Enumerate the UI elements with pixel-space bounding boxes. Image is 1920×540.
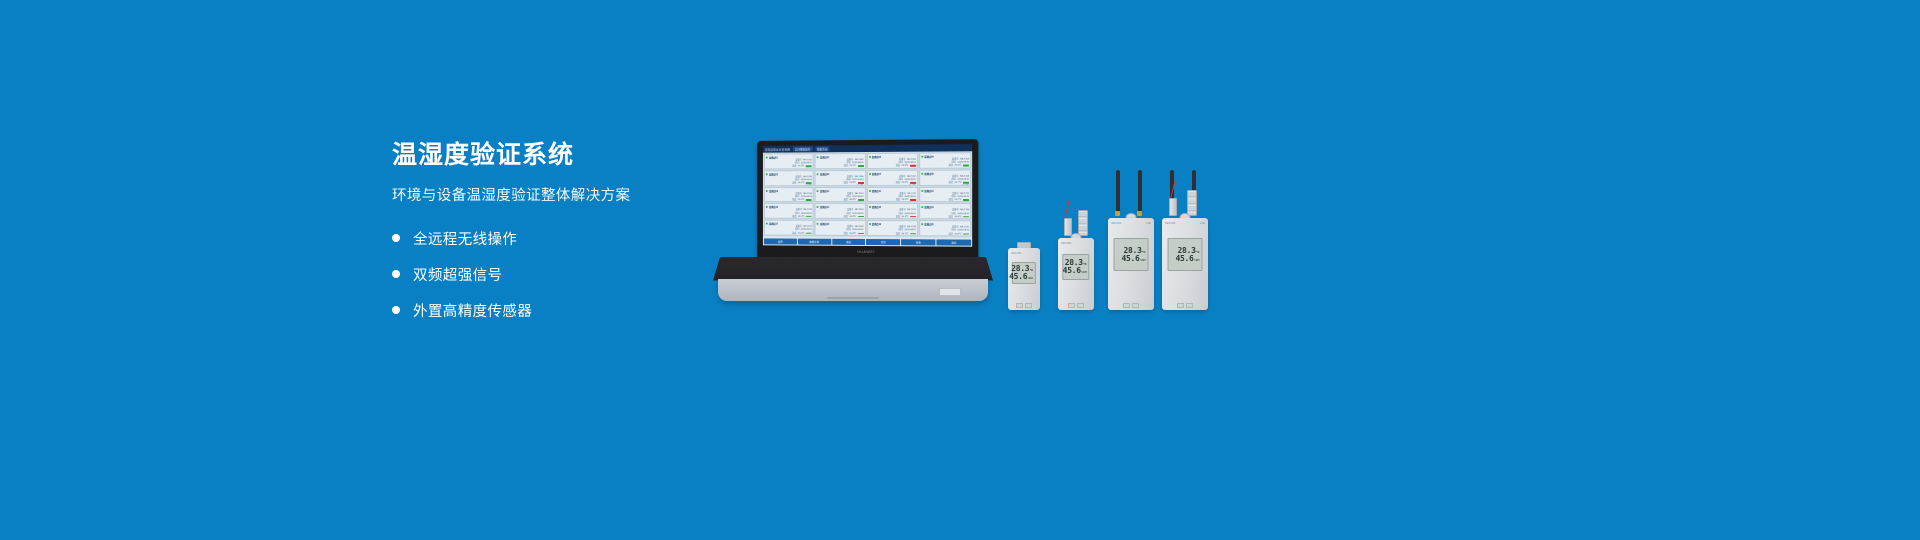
card-title: 监测点19	[872, 222, 881, 226]
hero-copy: 温湿度验证系统 环境与设备温湿度验证整体解决方案 全远程无线操作双频超强信号外置…	[392, 140, 722, 336]
card-title: 监测点15	[872, 205, 881, 209]
bullet-dot-icon	[392, 234, 400, 242]
card-title: 监测点18	[820, 222, 829, 226]
status-led-icon	[817, 173, 819, 175]
card-title: 监测点05	[769, 172, 778, 176]
antenna-base-right-icon	[1137, 211, 1142, 216]
sensor-filter-icon	[1187, 190, 1197, 216]
card-title: 监测点17	[769, 222, 778, 226]
card-title: 监测点01	[769, 156, 778, 160]
monitor-card[interactable]: 监测点19设备号NK-T119时间11/20 09:15温度26.1℃T126.…	[866, 220, 917, 236]
app-toolbar-button-0[interactable]: 设置	[764, 238, 797, 244]
device-button-row[interactable]	[1123, 303, 1139, 308]
card-title: 监测点02	[820, 155, 829, 159]
device-lcd-display: 28.3℃45.6%RH	[1062, 254, 1089, 280]
status-led-icon	[817, 223, 819, 225]
bullet-dot-icon	[392, 306, 400, 314]
status-bar-indicator	[858, 165, 864, 167]
card-title: 监测点08	[924, 172, 933, 176]
laptop-screen: 温湿度验证分析系统 实时数据监控 数据查询 监测点01设备号NK-T101时间1…	[763, 144, 972, 247]
device-body: INKONHS28.3℃45.6%RH	[1162, 218, 1208, 310]
monitor-card[interactable]: 监测点12设备号NK-T112时间11/20 09:15温度25.7℃T125.…	[919, 186, 971, 202]
status-bar-indicator	[910, 233, 916, 235]
status-bar-indicator	[963, 216, 969, 218]
app-toolbar-button-3[interactable]: 打印	[866, 239, 900, 245]
laptop-mockup: 温湿度验证分析系统 实时数据监控 数据查询 监测点01设备号NK-T101时间1…	[718, 140, 988, 300]
monitor-card[interactable]: 监测点01设备号NK-T101时间11/20 09:15温度25.3℃T125.…	[764, 153, 814, 169]
lcd-humidity-row: 45.6%RH	[1015, 273, 1033, 281]
status-bar-indicator	[910, 216, 916, 218]
status-bar-indicator	[963, 233, 969, 235]
status-led-icon	[766, 223, 768, 225]
status-bar-indicator	[963, 165, 969, 167]
status-bar-indicator	[910, 182, 916, 184]
device-button-left[interactable]	[1123, 303, 1130, 308]
status-bar-indicator	[858, 233, 864, 235]
device-brand-row: INKONHS	[1165, 221, 1205, 225]
device-body: INKONHS28.3℃45.6%RH	[1108, 218, 1154, 310]
lcd-humidity-unit: %RH	[1028, 277, 1033, 280]
lcd-humidity-value: 45.6	[1175, 255, 1193, 263]
monitor-card[interactable]: 监测点11设备号NK-T111时间11/20 09:15温度24.3℃T124.…	[866, 187, 917, 203]
feature-label: 外置高精度传感器	[413, 300, 532, 321]
feature-item-0: 全远程无线操作	[392, 228, 722, 249]
antenna-right-icon	[1138, 170, 1142, 212]
card-title: 监测点20	[924, 222, 933, 226]
device-model: HS	[1146, 221, 1151, 225]
sensor-device-3[interactable]: INKONHS28.3℃45.6%RH	[1162, 218, 1208, 310]
feature-label: 全远程无线操作	[413, 228, 517, 249]
laptop-keyboard[interactable]	[713, 257, 993, 280]
sensor-device-1[interactable]: INKON28.3℃45.6%RH	[1058, 238, 1094, 310]
card-title: 监测点03	[872, 155, 881, 159]
page-title: 温湿度验证系统	[392, 140, 722, 170]
device-brand-row: INKON	[1061, 241, 1091, 245]
device-brand: INKON	[1011, 251, 1022, 255]
lcd-humidity-row: 45.6%RH	[1117, 255, 1146, 263]
sensor-device-2[interactable]: INKONHS28.3℃45.6%RH	[1108, 218, 1154, 310]
device-brand-row: INKON	[1011, 251, 1037, 255]
app-toolbar-button-2[interactable]: 报表	[832, 238, 866, 244]
status-led-icon	[766, 157, 768, 159]
status-bar-indicator	[963, 182, 969, 184]
device-button-right[interactable]	[1077, 303, 1084, 308]
device-button-row[interactable]	[1016, 303, 1032, 308]
status-bar-indicator	[963, 199, 969, 201]
device-brand-row: INKONHS	[1111, 221, 1151, 225]
status-led-icon	[921, 223, 923, 225]
monitor-card[interactable]: 监测点05设备号NK-T105时间11/20 09:15温度26.2℃T126.…	[764, 170, 814, 186]
feature-item-2: 外置高精度传感器	[392, 300, 722, 321]
monitor-card[interactable]: 监测点13设备号NK-T113时间11/20 09:15温度26.0℃T126.…	[764, 203, 814, 219]
device-button-left[interactable]	[1068, 303, 1075, 308]
device-button-right[interactable]	[1186, 303, 1193, 308]
sensor-device-0[interactable]: INKON28.3℃45.6%RH	[1008, 248, 1040, 310]
status-bar-indicator	[858, 216, 864, 218]
status-bar-indicator	[806, 166, 812, 168]
feature-item-1: 双频超强信号	[392, 264, 722, 285]
probe-connector	[1064, 218, 1072, 236]
monitor-card[interactable]: 监测点08设备号NK-T108时间11/20 09:15温度24.7℃T124.…	[919, 169, 971, 185]
lcd-temp-unit: ℃	[1030, 269, 1033, 272]
laptop-lid: 温湿度验证分析系统 实时数据监控 数据查询 监测点01设备号NK-T101时间1…	[757, 139, 978, 259]
monitor-card[interactable]: 监测点14设备号NK-T114时间11/20 09:15温度24.9℃T125.…	[815, 203, 866, 219]
bullet-dot-icon	[392, 270, 400, 278]
status-led-icon	[868, 206, 870, 208]
status-led-icon	[817, 206, 819, 208]
device-brand: INKON	[1165, 221, 1176, 225]
monitor-card[interactable]: 监测点06设备号NK-T106时间11/20 09:15温度23.8℃T123.…	[815, 170, 866, 186]
card-title: 监测点04	[924, 155, 933, 159]
probe-connector	[1169, 198, 1177, 216]
monitor-card-grid: 监测点01设备号NK-T101时间11/20 09:15温度25.3℃T125.…	[763, 151, 972, 237]
lcd-temp-unit: ℃	[1083, 263, 1086, 266]
lcd-humidity-value: 45.6	[1121, 255, 1139, 263]
device-model: HS	[1200, 221, 1205, 225]
status-led-icon	[766, 173, 768, 175]
antenna-base-left-icon	[1115, 211, 1120, 216]
status-led-icon	[817, 190, 819, 192]
hero-banner: 温湿度验证系统 环境与设备温湿度验证整体解决方案 全远程无线操作双频超强信号外置…	[0, 0, 1920, 540]
monitor-card[interactable]: 监测点04设备号NK-T104时间11/20 09:15温度25.0℃T125.…	[919, 152, 971, 168]
device-button-right[interactable]	[1132, 303, 1139, 308]
monitor-card[interactable]: 监测点15设备号NK-T115时间11/20 09:15温度25.2℃T125.…	[866, 203, 917, 219]
status-bar-indicator	[910, 165, 916, 167]
lcd-humidity-value: 45.6	[1063, 267, 1081, 275]
device-button-left[interactable]	[1016, 303, 1023, 308]
device-brand: INKON	[1111, 221, 1122, 225]
device-button-row[interactable]	[1068, 303, 1084, 308]
device-lcd-display: 28.3℃45.6%RH	[1168, 238, 1203, 271]
app-window-title: 温湿度验证分析系统	[765, 147, 790, 151]
monitor-card[interactable]: 监测点16设备号NK-T116时间11/20 09:15温度26.6℃T126.…	[919, 203, 971, 219]
status-led-icon	[921, 156, 923, 158]
sensor-filter-icon	[1078, 210, 1088, 236]
lcd-humidity-value: 45.6	[1009, 273, 1027, 281]
app-menu-item-1[interactable]: 数据查询	[815, 146, 829, 151]
lcd-humidity-row: 45.6%RH	[1065, 267, 1086, 275]
device-brand: INKON	[1061, 241, 1072, 245]
card-title: 监测点12	[924, 188, 933, 192]
card-title: 监测点10	[820, 189, 829, 193]
card-title: 监测点06	[820, 172, 829, 176]
lcd-humidity-unit: %RH	[1081, 271, 1086, 274]
status-bar-indicator	[910, 199, 916, 201]
card-title: 监测点11	[872, 189, 881, 193]
page-subtitle: 环境与设备温湿度验证整体解决方案	[392, 187, 722, 206]
app-toolbar-button-4[interactable]: 帮助	[901, 239, 935, 245]
device-button-right[interactable]	[1025, 303, 1032, 308]
status-bar-indicator	[858, 182, 864, 184]
lcd-humidity-unit: %RH	[1194, 259, 1199, 262]
app-menu-item-0[interactable]: 实时数据监控	[793, 146, 812, 151]
card-title: 监测点09	[769, 189, 778, 193]
status-led-icon	[868, 156, 870, 158]
status-bar-indicator	[858, 199, 864, 201]
lcd-humidity-unit: %RH	[1140, 259, 1145, 262]
laptop-sticker	[939, 288, 961, 296]
status-led-icon	[817, 156, 819, 158]
laptop-palmrest	[718, 279, 988, 301]
card-title: 监测点13	[769, 205, 778, 209]
status-led-icon	[921, 172, 923, 174]
monitor-card[interactable]: 监测点17设备号NK-T117时间11/20 09:15温度24.5℃T124.…	[764, 220, 814, 236]
status-led-icon	[921, 189, 923, 191]
status-bar-indicator	[806, 216, 812, 218]
device-button-row[interactable]	[1177, 303, 1193, 308]
monitor-card[interactable]: 监测点03设备号NK-T103时间11/20 09:15温度26.9℃T127.…	[866, 153, 917, 169]
lcd-temp-unit: ℃	[1142, 251, 1145, 254]
laptop-base	[718, 257, 988, 297]
lcd-humidity-row: 45.6%RH	[1171, 255, 1200, 263]
antenna-left-icon	[1116, 170, 1120, 212]
monitor-card[interactable]: 监测点10设备号NK-T110时间11/20 09:15温度26.4℃T126.…	[815, 187, 866, 203]
device-button-left[interactable]	[1177, 303, 1184, 308]
card-title: 监测点14	[820, 205, 829, 209]
device-body: INKON28.3℃45.6%RH	[1058, 238, 1094, 310]
status-led-icon	[868, 173, 870, 175]
app-toolbar-button-5[interactable]: 退出	[937, 239, 972, 245]
device-lcd-display: 28.3℃45.6%RH	[1114, 238, 1149, 271]
status-led-icon	[868, 223, 870, 225]
monitor-card[interactable]: 监测点09设备号NK-T109时间11/20 09:15温度25.9℃T126.…	[764, 187, 814, 203]
monitor-card[interactable]: 监测点07设备号NK-T107时间11/20 09:15温度25.5℃T125.…	[866, 170, 917, 186]
feature-list: 全远程无线操作双频超强信号外置高精度传感器	[392, 228, 722, 321]
app-toolbar-button-1[interactable]: 数据导出	[798, 238, 831, 244]
lcd-temp-unit: ℃	[1196, 251, 1199, 254]
monitor-card[interactable]: 监测点02设备号NK-T102时间11/20 09:15温度24.1℃T124.…	[815, 153, 866, 169]
status-led-icon	[766, 190, 768, 192]
status-bar-indicator	[806, 199, 812, 201]
feature-label: 双频超强信号	[413, 264, 502, 285]
device-body: INKON28.3℃45.6%RH	[1008, 248, 1040, 310]
status-led-icon	[921, 206, 923, 208]
monitor-card[interactable]: 监测点20设备号NK-T120时间11/20 09:15温度25.4℃T125.…	[919, 220, 971, 236]
status-led-icon	[766, 206, 768, 208]
status-bar-indicator	[806, 182, 812, 184]
device-lcd-display: 28.3℃45.6%RH	[1012, 262, 1036, 284]
monitor-card[interactable]: 监测点18设备号NK-T118时间11/20 09:15温度25.8℃T125.…	[815, 220, 866, 236]
card-title: 监测点16	[924, 205, 933, 209]
status-led-icon	[868, 189, 870, 191]
status-bar-indicator	[806, 232, 812, 234]
card-title: 监测点07	[872, 172, 881, 176]
